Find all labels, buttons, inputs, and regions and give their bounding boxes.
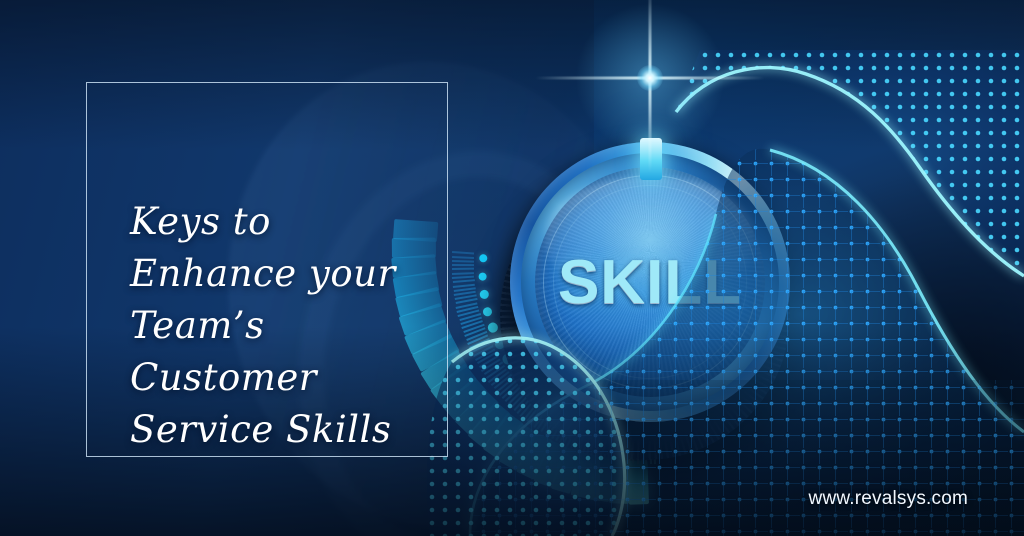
banner-image: SKILL xyxy=(0,0,1024,536)
website-url[interactable]: www.revalsys.com xyxy=(809,488,968,510)
headline-text: Keys to Enhance your Team’s Customer Ser… xyxy=(130,196,460,456)
star-flare-core xyxy=(637,65,663,91)
